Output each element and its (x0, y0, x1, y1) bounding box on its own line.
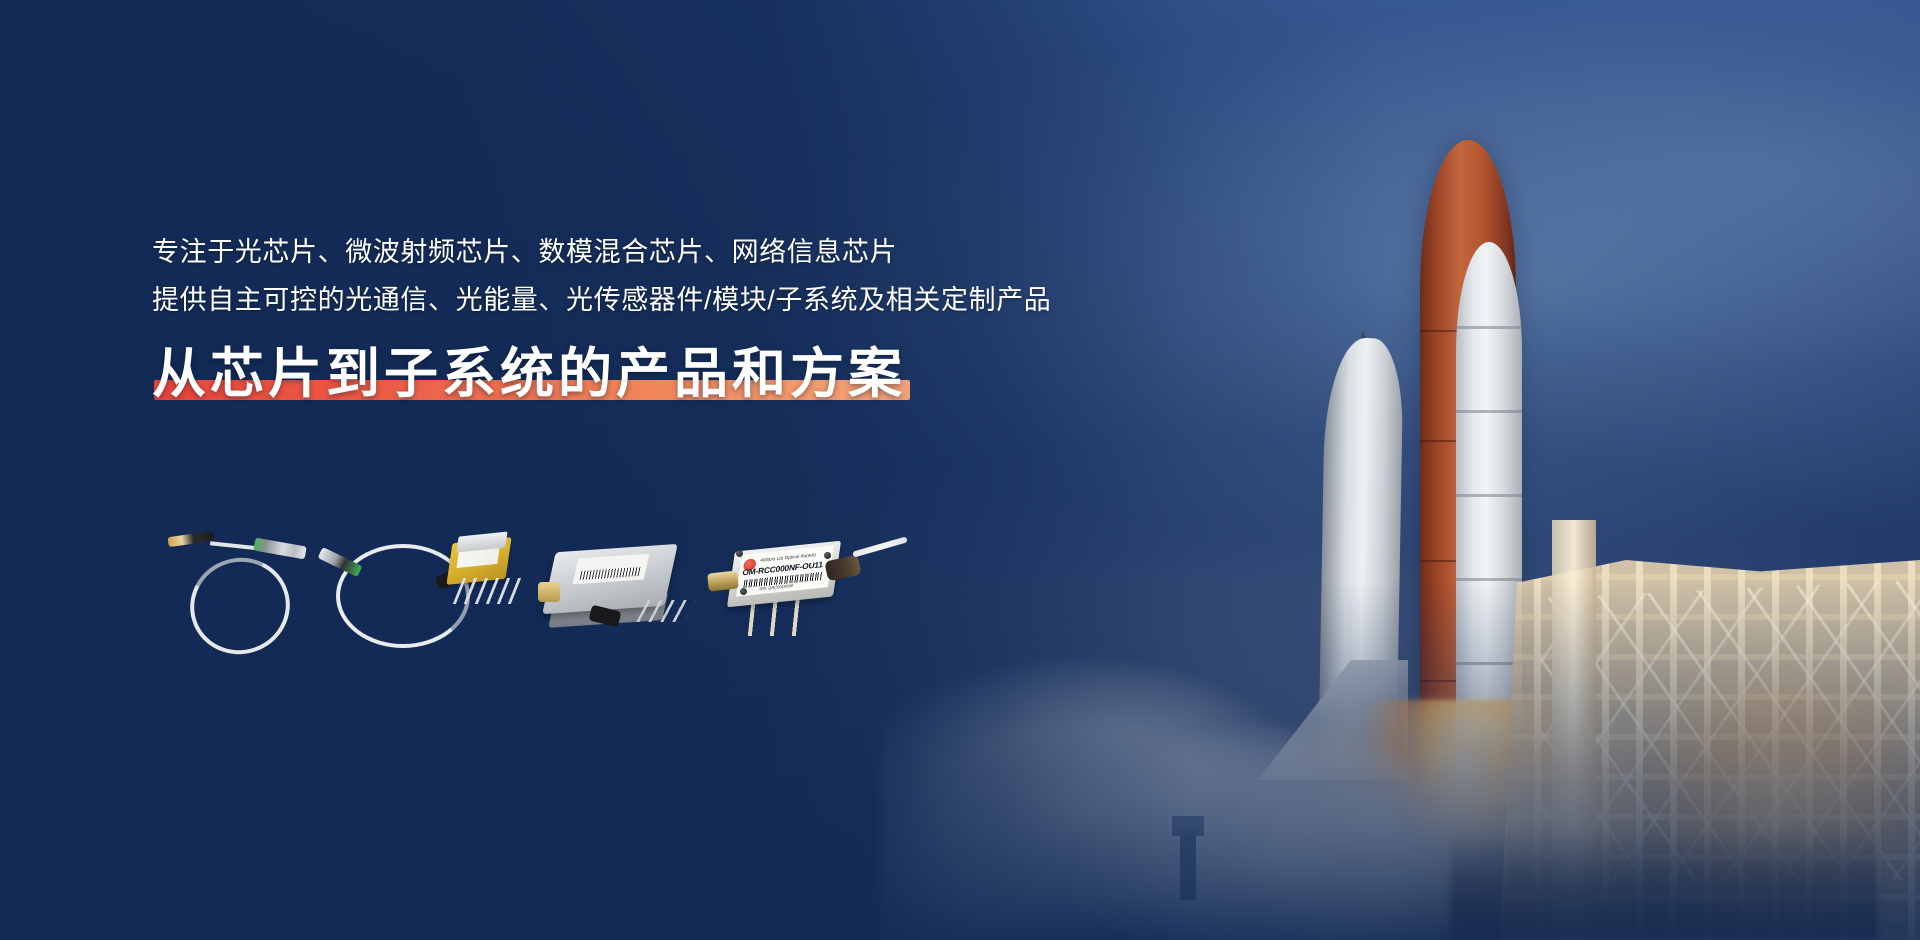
fiber-connector-right-icon (253, 538, 306, 560)
banner-headline-wrap: 从芯片到子系统的产品和方案 (152, 342, 906, 406)
sma-connector-icon (538, 582, 560, 602)
product-butterfly-laser-module (318, 526, 528, 656)
butterfly-package-pins (453, 578, 526, 604)
fiber-loop-icon (178, 545, 303, 667)
banner-lede-line-2: 提供自主可控的光通信、光能量、光传感器件/模块/子系统及相关定制产品 (152, 276, 1152, 324)
module-pins (636, 600, 696, 622)
module-label (573, 554, 650, 585)
product-optical-receiver-module: 40Gb/s Ltd Optical Rx(wA) OM-RCC000NF-OU… (706, 532, 902, 652)
banner-lede-line-1: 专注于光芯片、微波射频芯片、数模混合芯片、网络信息芯片 (152, 228, 1152, 276)
product-image-row: 40Gb/s Ltd Optical Rx(wA) OM-RCC000NF-OU… (158, 520, 898, 670)
fiber-connector-left-icon (168, 531, 215, 547)
hero-banner: 专注于光芯片、微波射频芯片、数模混合芯片、网络信息芯片 提供自主可控的光通信、光… (0, 0, 1920, 940)
housing-screw-icon (824, 552, 831, 559)
product-rf-metal-module (538, 538, 688, 648)
banner-copy: 专注于光芯片、微波射频芯片、数模混合芯片、网络信息芯片 提供自主可控的光通信、光… (152, 228, 1152, 406)
sma-connector-icon (707, 570, 739, 591)
product-fiber-patch-cord (162, 530, 312, 650)
copy-contrast-mask (0, 0, 1920, 940)
fiber-connector-icon (318, 547, 363, 577)
housing-screw-icon (736, 550, 743, 557)
banner-headline: 从芯片到子系统的产品和方案 (152, 342, 906, 406)
housing-screw-icon (740, 588, 747, 595)
fiber-pigtail-icon (852, 536, 907, 557)
